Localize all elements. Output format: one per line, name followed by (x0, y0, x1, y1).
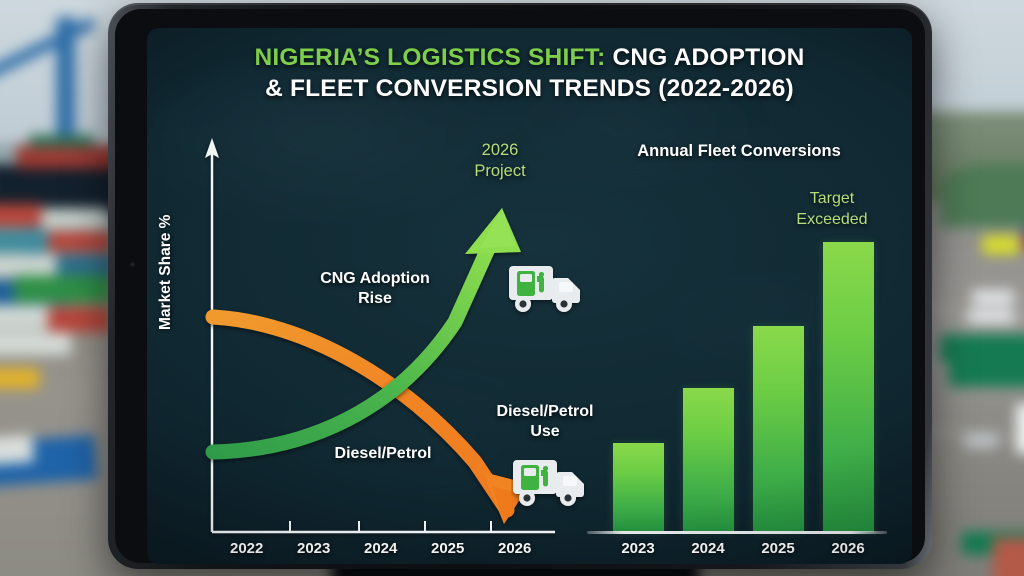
highway-truck (982, 236, 1020, 255)
container-stack (42, 208, 109, 229)
highway-sign (940, 334, 1024, 363)
container-stack (0, 204, 42, 227)
highway-car (964, 432, 1000, 449)
tablet-device: NIGERIA’S LOGISTICS SHIFT: CNG ADOPTION … (108, 3, 932, 569)
front-camera-icon (130, 262, 135, 267)
roadside-grass (940, 164, 1024, 227)
foreground-container (993, 538, 1024, 576)
tablet-bezel: NIGERIA’S LOGISTICS SHIFT: CNG ADOPTION … (115, 9, 925, 563)
screenshot-stage: NIGERIA’S LOGISTICS SHIFT: CNG ADOPTION … (0, 0, 1024, 576)
container-stack (0, 305, 54, 330)
highway-truck (968, 309, 1014, 324)
highway-sign (949, 362, 1024, 387)
tablet-screen[interactable]: NIGERIA’S LOGISTICS SHIFT: CNG ADOPTION … (147, 28, 912, 564)
container-stack (48, 231, 113, 252)
container-stack (0, 229, 48, 252)
container-stack (0, 254, 56, 277)
container-stack (0, 435, 34, 467)
container-stack (14, 275, 111, 302)
container-stack (56, 254, 115, 277)
screen-vignette (147, 28, 912, 564)
container-stack (48, 307, 111, 332)
ship-container (29, 135, 94, 148)
container-stack (0, 332, 71, 355)
highway-truck (972, 290, 1014, 305)
highway-truck (1016, 404, 1024, 454)
container-yard-truck (0, 368, 40, 389)
